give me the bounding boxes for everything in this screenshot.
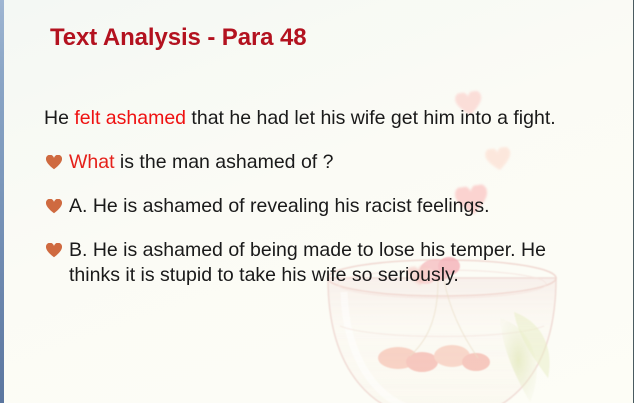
paragraph-3: A. He is ashamed of revealing his racist… — [44, 194, 590, 219]
paragraph-1: He felt ashamed that he had let his wife… — [44, 106, 590, 131]
slide-canvas: Text Analysis - Para 48 He felt ashamed … — [0, 0, 634, 403]
paragraph-text: He felt ashamed that he had let his wife… — [44, 106, 590, 131]
heart-icon — [46, 243, 62, 258]
plain-text: that he had let his wife get him into a … — [186, 107, 556, 129]
paragraph-2: What is the man ashamed of ? — [44, 150, 590, 175]
plain-text: B. He is ashamed of being made to lose h… — [69, 239, 546, 286]
left-accent-bar — [0, 0, 4, 403]
slide-title: Text Analysis - Para 48 — [50, 24, 307, 52]
paragraph-text: What is the man ashamed of ? — [69, 150, 590, 175]
paragraph-4: B. He is ashamed of being made to lose h… — [44, 238, 590, 288]
highlighted-text: felt ashamed — [74, 107, 186, 129]
plain-text: is the man ashamed of ? — [115, 151, 334, 173]
heart-icon — [46, 199, 62, 214]
highlighted-text: What — [69, 151, 115, 173]
plain-text: He — [44, 107, 74, 129]
body-text-block: He felt ashamed that he had let his wife… — [44, 106, 590, 307]
paragraph-text: A. He is ashamed of revealing his racist… — [69, 194, 590, 219]
heart-icon — [46, 155, 62, 170]
paragraph-text: B. He is ashamed of being made to lose h… — [69, 238, 590, 288]
plain-text: A. He is ashamed of revealing his racist… — [69, 195, 490, 217]
